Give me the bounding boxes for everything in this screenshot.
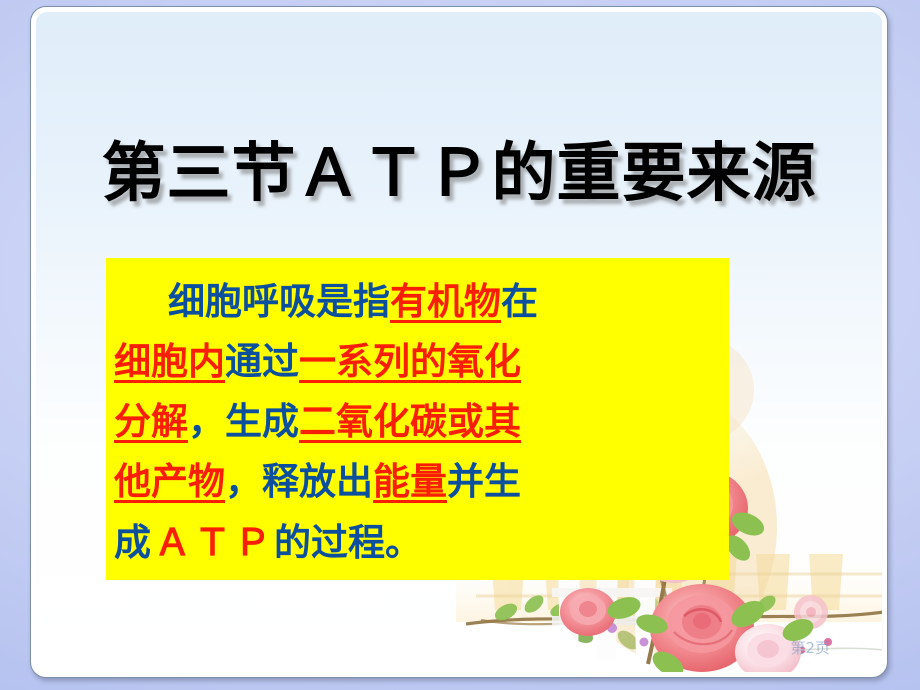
page-title: 第三节ＡＴＰ的重要来源 — [36, 122, 882, 214]
definition-segment-highlight: 他产物 — [114, 460, 225, 503]
page-number-marker: 第2页 — [790, 637, 830, 658]
definition-line-5: 成ＡＴＰ的过程。 — [114, 512, 719, 573]
definition-line-2: 细胞内通过一系列的氧化 — [114, 332, 719, 392]
definition-segment-highlight: 二氧化碳或其 — [299, 400, 521, 443]
definition-segment-blue: ，释放出 — [225, 460, 373, 503]
definition-segment-blue: ，生成 — [188, 400, 299, 443]
definition-segment-atp: ＡＴＰ — [154, 520, 274, 564]
definition-segment-blue: 的过程。 — [274, 521, 422, 564]
definition-segment-highlight: 能量 — [373, 460, 447, 503]
definition-segment-highlight: 细胞内 — [114, 340, 225, 383]
definition-segment-highlight: 分解 — [114, 400, 188, 443]
definition-line-1: 细胞呼吸是指有机物在 — [114, 272, 719, 332]
slide-frame: 第三节ＡＴＰ的重要来源 细胞呼吸是指有机物在 细胞内通过一系列的氧化 分解，生成… — [30, 6, 888, 678]
definition-segment-blue: 在 — [501, 280, 538, 323]
definition-segment-blue: 并生 — [447, 460, 521, 503]
definition-textbox: 细胞呼吸是指有机物在 细胞内通过一系列的氧化 分解，生成二氧化碳或其 他产物，释… — [106, 258, 729, 580]
definition-segment-blue: 细胞呼吸是指 — [168, 280, 390, 323]
definition-segment-blue: 成 — [114, 520, 154, 564]
definition-line-4: 他产物，释放出能量并生 — [114, 452, 719, 512]
definition-line-3: 分解，生成二氧化碳或其 — [114, 392, 719, 452]
definition-segment-highlight: 一系列的氧化 — [299, 340, 521, 383]
definition-segment-blue: 通过 — [225, 340, 299, 383]
definition-segment-highlight: 有机物 — [390, 280, 501, 323]
slide-canvas: 第三节ＡＴＰ的重要来源 细胞呼吸是指有机物在 细胞内通过一系列的氧化 分解，生成… — [36, 12, 882, 672]
